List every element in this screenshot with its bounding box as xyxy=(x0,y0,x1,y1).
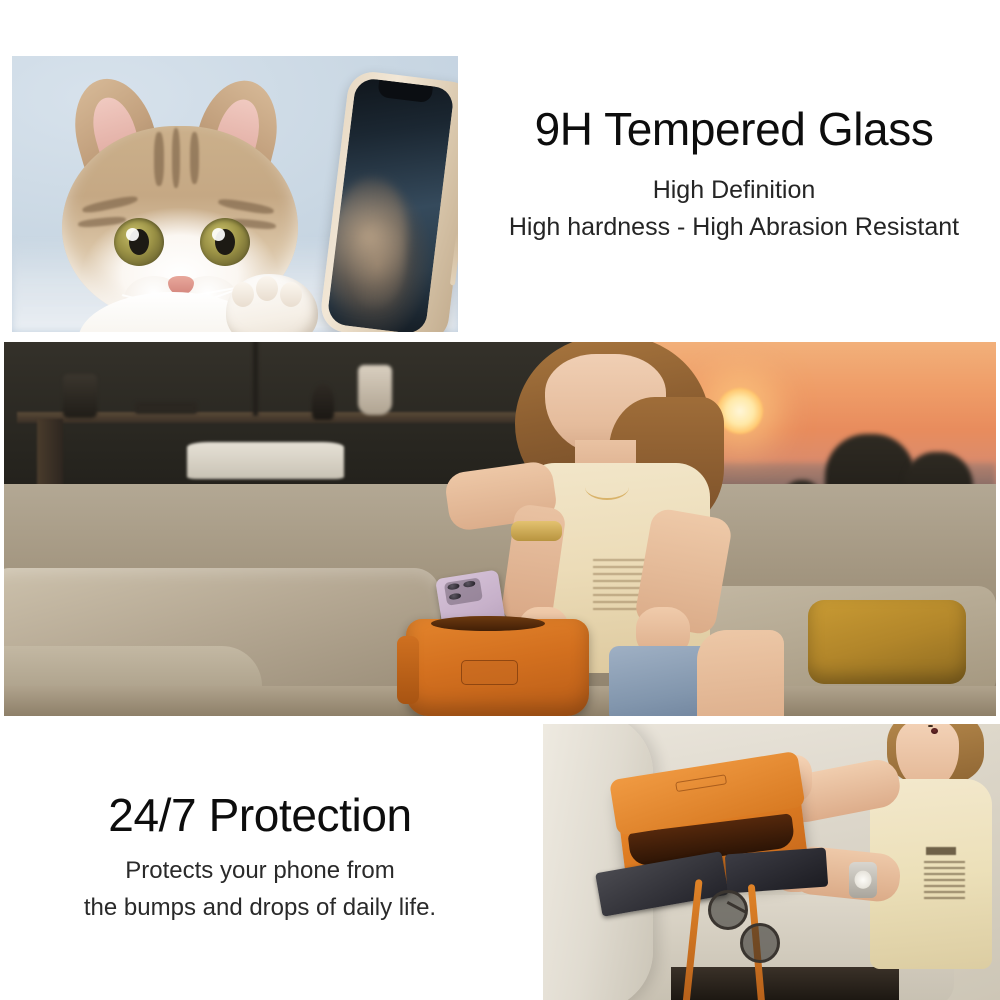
protection-subline-2: the bumps and drops of daily life. xyxy=(0,889,520,927)
tank-top-print-title xyxy=(926,847,955,855)
smartphone-notch xyxy=(377,80,433,103)
tempered-glass-text-block: 9H Tempered Glass High Definition High h… xyxy=(468,104,1000,247)
tempered-glass-headline: 9H Tempered Glass xyxy=(468,104,1000,156)
kitten-forehead-stripe xyxy=(190,132,199,184)
kitten-right-eye-glint xyxy=(212,228,225,241)
tempered-glass-subline-2: High hardness - High Abrasion Resistant xyxy=(468,209,1000,247)
woman-open-mouth xyxy=(931,728,938,734)
tempered-glass-subline-1: High Definition xyxy=(468,172,1000,210)
shelf-vase xyxy=(358,365,392,415)
kitten-touching-phone-photo xyxy=(12,56,458,332)
shocked-woman-figure xyxy=(799,724,1000,1000)
woman-wristwatch xyxy=(849,862,876,898)
kitten-toe xyxy=(280,282,302,307)
shelf-lamp-stem xyxy=(253,342,258,416)
woman-putting-phone-in-bag-photo xyxy=(4,342,996,716)
camera-lens xyxy=(463,580,476,588)
kitten-forehead-stripe xyxy=(172,128,180,188)
kitten-toe xyxy=(232,282,254,307)
falling-tablet-device xyxy=(725,847,828,893)
shelf-cone-object xyxy=(312,384,334,420)
woman-gold-bracelet xyxy=(511,521,562,540)
camera-lens xyxy=(449,593,462,601)
kitten-paw xyxy=(226,274,318,332)
protection-headline: 24/7 Protection xyxy=(0,790,520,842)
kitten-left-eye xyxy=(114,218,164,266)
handbag-brand-patch xyxy=(461,660,518,685)
orange-leather-handbag xyxy=(406,619,590,716)
woman-leg xyxy=(697,630,785,716)
smartphone-camera-module xyxy=(444,578,484,606)
white-cushion xyxy=(187,442,344,479)
kitten-forehead-stripe xyxy=(154,132,164,186)
wristwatch-face xyxy=(855,871,872,890)
kitten-right-eye xyxy=(200,218,250,266)
sunglasses-lens xyxy=(740,923,780,963)
kitten xyxy=(50,78,340,332)
woman-necklace xyxy=(585,475,629,500)
woman-eye xyxy=(928,725,932,727)
camera-lens xyxy=(447,583,460,591)
handbag-brand-patch xyxy=(675,774,727,792)
kitten-cheek-stripe xyxy=(82,194,139,214)
kitten-cheek-stripe xyxy=(218,197,275,216)
protection-subline-1: Protects your phone from xyxy=(0,852,520,890)
tank-top-print-body xyxy=(924,861,965,903)
phone-falling-out-of-bag-photo xyxy=(543,724,1000,1000)
shelf-box xyxy=(135,402,197,414)
shelf-jar xyxy=(63,374,97,418)
kitten-left-eye-glint xyxy=(126,228,139,241)
protection-text-block: 24/7 Protection Protects your phone from… xyxy=(0,790,520,927)
smartphone-screen-reflection xyxy=(326,174,415,326)
kitten-toe xyxy=(256,276,278,301)
handbag-strap xyxy=(397,636,419,704)
infographic-canvas: 9H Tempered Glass High Definition High h… xyxy=(0,0,1000,1000)
mustard-pillow xyxy=(808,600,967,683)
handbag-opening xyxy=(431,616,545,632)
smartphone-screen xyxy=(326,77,454,332)
